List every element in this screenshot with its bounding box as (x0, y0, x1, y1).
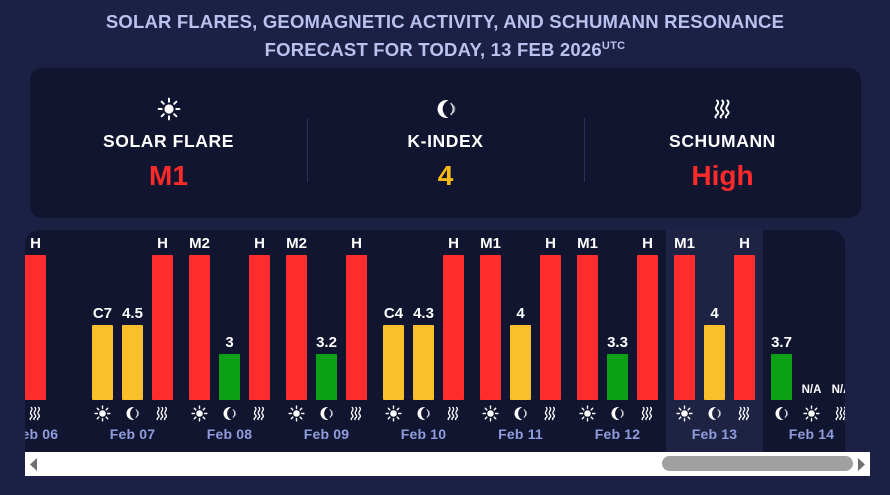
bar-value-label: H (254, 235, 265, 252)
bars-row: M23H (181, 235, 278, 400)
bar-value-label: 4.5 (122, 305, 143, 322)
bar-rect[interactable] (771, 354, 792, 400)
bar-rect[interactable] (249, 255, 270, 400)
bar-value-label: 3.3 (607, 334, 628, 351)
bar-rect[interactable] (122, 325, 143, 400)
metric-icons-row (763, 400, 845, 426)
sun-icon (674, 405, 695, 422)
bar-value-label: M1 (674, 235, 695, 252)
bar-value-label: N/A (802, 382, 822, 399)
bar-value-label: H (351, 235, 362, 252)
bar-rect[interactable] (383, 325, 404, 400)
moon-icon (607, 405, 628, 422)
bar-rect[interactable] (443, 255, 464, 400)
moon-icon (219, 405, 240, 422)
metric-icons-row (375, 400, 472, 426)
schumann-icon (152, 405, 173, 422)
summary-value: M1 (149, 161, 188, 191)
page-title: SOLAR FLARES, GEOMAGNETIC ACTIVITY, AND … (0, 0, 890, 62)
schumann-icon (540, 405, 561, 422)
day-label: Feb 08 (181, 426, 278, 452)
moon-icon (704, 405, 725, 422)
sun-icon (286, 405, 307, 422)
bar-value-label: H (545, 235, 556, 252)
schumann-icon (711, 96, 735, 122)
bar-value-label: 4 (710, 305, 718, 322)
moon-icon (122, 405, 143, 422)
bar-rect[interactable] (316, 354, 337, 400)
metric-icons-row (472, 400, 569, 426)
bar-slot[interactable]: 3.2 (316, 235, 337, 400)
moon-icon (413, 405, 434, 422)
day-label: Feb 06 (25, 426, 84, 452)
bar-slot[interactable]: N/A (801, 235, 822, 400)
summary-card: SOLAR FLAREM1K-INDEX4SCHUMANNHigh (30, 68, 861, 218)
sun-icon (577, 405, 598, 422)
bar-rect[interactable] (25, 255, 46, 400)
summary-value: 4 (438, 161, 454, 191)
chart-scroll-content: HFeb 06C74.5HFeb 07M23HFeb 08M23.2HFeb 0… (25, 230, 845, 452)
bar-slot[interactable]: 4 (510, 235, 531, 400)
bar-slot[interactable]: M1 (577, 235, 598, 400)
summary-cell-k-index: K-INDEX4 (307, 68, 584, 218)
bar-slot[interactable]: H (249, 235, 270, 400)
bar-value-label: 4 (516, 305, 524, 322)
bar-rect[interactable] (637, 255, 658, 400)
bar-value-label: C7 (93, 305, 112, 322)
schumann-icon (734, 405, 755, 422)
bar-slot[interactable]: M2 (189, 235, 210, 400)
bar-slot[interactable]: H (25, 235, 46, 400)
bar-slot[interactable]: M2 (286, 235, 307, 400)
bar-value-label: M1 (577, 235, 598, 252)
schumann-icon (346, 405, 367, 422)
bar-rect[interactable] (219, 354, 240, 400)
bar-value-label: C4 (384, 305, 403, 322)
bar-rect[interactable] (152, 255, 173, 400)
bar-rect[interactable] (286, 255, 307, 400)
sun-icon (801, 405, 822, 422)
summary-label: SOLAR FLARE (103, 131, 234, 152)
bar-rect[interactable] (674, 255, 695, 400)
summary-label: SCHUMANN (669, 131, 776, 152)
bars-row: C74.5H (84, 235, 181, 400)
sun-icon (189, 405, 210, 422)
day-label: Feb 12 (569, 426, 666, 452)
bar-slot[interactable]: H (443, 235, 464, 400)
day-group[interactable]: M23HFeb 08 (181, 230, 278, 452)
day-group[interactable]: M14HFeb 13 (666, 230, 763, 452)
bars-row: M14H (666, 235, 763, 400)
day-group[interactable]: 3.7N/AN/AFeb 14 (763, 230, 845, 452)
day-group[interactable]: C74.5HFeb 07 (84, 230, 181, 452)
page-title-utc: UTC (602, 40, 626, 52)
sun-icon (480, 405, 501, 422)
summary-label: K-INDEX (407, 131, 483, 152)
summary-cell-solar-flare: SOLAR FLAREM1 (30, 68, 307, 218)
schumann-icon (831, 405, 845, 422)
moon-icon (316, 405, 337, 422)
bar-value-label: H (30, 235, 41, 252)
day-label: Feb 09 (278, 426, 375, 452)
bar-rect[interactable] (480, 255, 501, 400)
bar-slot[interactable]: H (734, 235, 755, 400)
bar-slot[interactable]: 4.3 (413, 235, 434, 400)
bar-value-label: H (157, 235, 168, 252)
bar-rect[interactable] (510, 325, 531, 400)
bar-value-label: H (448, 235, 459, 252)
metric-icons-row (278, 400, 375, 426)
bar-rect[interactable] (346, 255, 367, 400)
bars-row: M13.3H (569, 235, 666, 400)
bar-value-label: H (739, 235, 750, 252)
bar-value-label: 3.2 (316, 334, 337, 351)
day-label: Feb 11 (472, 426, 569, 452)
bar-slot[interactable]: N/A (831, 235, 845, 400)
bar-slot[interactable]: 3.3 (607, 235, 628, 400)
bar-rect[interactable] (734, 255, 755, 400)
bar-rect[interactable] (189, 255, 210, 400)
bar-value-label: M2 (286, 235, 307, 252)
day-group[interactable]: C44.3HFeb 10 (375, 230, 472, 452)
bar-slot[interactable]: M1 (674, 235, 695, 400)
horizontal-scrollbar[interactable] (25, 452, 870, 476)
bars-row: M14H (472, 235, 569, 400)
day-group[interactable]: HFeb 06 (25, 230, 84, 452)
bars-row: M23.2H (278, 235, 375, 400)
moon-icon (510, 405, 531, 422)
sun-icon (92, 405, 113, 422)
schumann-icon (637, 405, 658, 422)
metric-icons-row (25, 400, 84, 426)
page-title-line-1: SOLAR FLARES, GEOMAGNETIC ACTIVITY, AND … (0, 9, 890, 34)
page-title-line-2: FORECAST FOR TODAY, 13 FEB 2026 (265, 39, 602, 60)
bar-value-label: M1 (480, 235, 501, 252)
day-label: Feb 07 (84, 426, 181, 452)
scroll-left-arrow-icon[interactable] (25, 452, 42, 476)
bar-value-label: 3 (225, 334, 233, 351)
schumann-icon (443, 405, 464, 422)
day-label: Feb 13 (666, 426, 763, 452)
sun-icon (383, 405, 404, 422)
bar-slot[interactable]: H (637, 235, 658, 400)
moon-icon (771, 405, 792, 422)
bar-slot[interactable]: 4 (704, 235, 725, 400)
day-group[interactable]: M23.2HFeb 09 (278, 230, 375, 452)
bar-slot[interactable]: 3.7 (771, 235, 792, 400)
bar-value-label: 3.7 (771, 334, 792, 351)
bar-value-label: 4.3 (413, 305, 434, 322)
bar-slot[interactable]: H (540, 235, 561, 400)
bar-rect[interactable] (540, 255, 561, 400)
forecast-chart-panel: HFeb 06C74.5HFeb 07M23HFeb 08M23.2HFeb 0… (25, 230, 845, 452)
bar-slot[interactable]: C4 (383, 235, 404, 400)
scrollbar-thumb[interactable] (662, 456, 853, 471)
bar-slot[interactable]: H (346, 235, 367, 400)
sun-icon (157, 96, 181, 122)
summary-cell-schumann: SCHUMANNHigh (584, 68, 861, 218)
day-group[interactable]: M13.3HFeb 12 (569, 230, 666, 452)
day-group[interactable]: M14HFeb 11 (472, 230, 569, 452)
bar-value-label: N/A (832, 382, 845, 399)
bar-value-label: H (642, 235, 653, 252)
bar-rect[interactable] (92, 325, 113, 400)
summary-value: High (691, 161, 753, 191)
bar-rect[interactable] (704, 325, 725, 400)
scroll-right-arrow-icon[interactable] (853, 452, 870, 476)
bar-value-label: M2 (189, 235, 210, 252)
scrollbar-track[interactable] (42, 452, 853, 476)
bar-rect[interactable] (607, 354, 628, 400)
bar-rect[interactable] (577, 255, 598, 400)
metric-icons-row (84, 400, 181, 426)
bars-row: 3.7N/AN/A (763, 235, 845, 400)
metric-icons-row (666, 400, 763, 426)
bars-row: C44.3H (375, 235, 472, 400)
page-title-line-2-wrap: FORECAST FOR TODAY, 13 FEB 2026UTC (0, 34, 890, 62)
day-label: Feb 10 (375, 426, 472, 452)
day-label: Feb 14 (763, 426, 845, 452)
bar-slot[interactable]: 3 (219, 235, 240, 400)
bar-slot[interactable]: 4.5 (122, 235, 143, 400)
bar-slot[interactable]: C7 (92, 235, 113, 400)
bars-row: H (25, 235, 84, 400)
metric-icons-row (569, 400, 666, 426)
moon-icon (434, 96, 458, 122)
schumann-icon (25, 405, 46, 422)
bar-slot[interactable]: H (152, 235, 173, 400)
bar-rect[interactable] (413, 325, 434, 400)
metric-icons-row (181, 400, 278, 426)
schumann-icon (249, 405, 270, 422)
bar-slot[interactable]: M1 (480, 235, 501, 400)
